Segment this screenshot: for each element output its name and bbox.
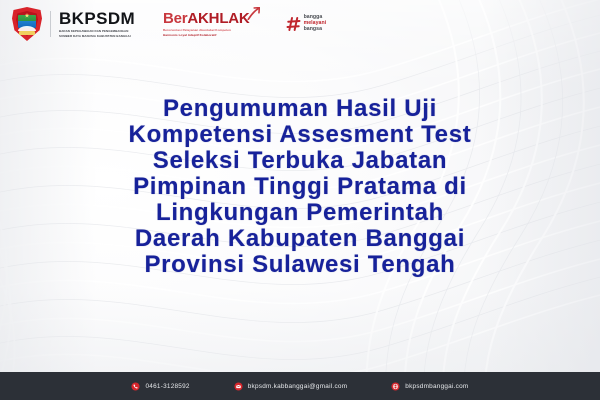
title-line-3: Seleksi Terbuka Jabatan xyxy=(26,148,574,174)
title-line-2: Kompetensi Assesment Test xyxy=(26,122,574,148)
bkpsdm-word: BKPSDM xyxy=(59,10,137,27)
berakhlak-tagline: Berorientasi Pelayanan Akuntabel Kompete… xyxy=(163,28,250,37)
announcement-title: Pengumuman Hasil Uji Kompetensi Assesmen… xyxy=(0,96,600,278)
bangga-line3: bangsa xyxy=(304,27,327,33)
bkpsdm-wordmark: BKPSDM BADAN KEPEGAWAIAN DAN PENGEMBANGA… xyxy=(59,10,137,37)
berakhlak-prefix: Ber xyxy=(163,10,187,27)
title-line-6: Daerah Kabupaten Banggai xyxy=(26,226,574,252)
contact-email-value: bkpsdm.kabbanggai@gmail.com xyxy=(248,383,348,390)
footer-contact-bar: 0461-3128592 bkpsdm.kabbanggai@gmail.com… xyxy=(0,372,600,400)
title-line-7: Provinsi Sulawesi Tengah xyxy=(26,252,574,278)
contact-website-value: bkpsdmbanggai.com xyxy=(405,383,468,390)
contact-website[interactable]: bkpsdmbanggai.com xyxy=(391,382,468,391)
hashtag-mark-icon xyxy=(286,16,301,32)
header-logo-bar: BKPSDM BADAN KEPEGAWAIAN DAN PENGEMBANGA… xyxy=(0,0,600,48)
berakhlak-wordmark: BerAKHLAK xyxy=(163,11,250,26)
bkpsdm-subtitle: BADAN KEPEGAWAIAN DAN PENGEMBANGAN SUMBE… xyxy=(59,29,137,37)
bangga-melayani-bangsa-logo: bangga melayani bangsa xyxy=(286,15,327,32)
bkpsdm-logo-lockup: BKPSDM BADAN KEPEGAWAIAN DAN PENGEMBANGA… xyxy=(12,7,137,41)
title-line-4: Pimpinan Tinggi Pratama di xyxy=(26,174,574,200)
contact-phone-value: 0461-3128592 xyxy=(145,383,189,390)
contact-phone[interactable]: 0461-3128592 xyxy=(131,382,189,391)
globe-icon xyxy=(391,382,400,391)
title-line-1: Pengumuman Hasil Uji xyxy=(26,96,574,122)
berakhlak-suffix: AKHLAK xyxy=(187,10,249,27)
banggai-regency-crest-icon xyxy=(12,7,42,41)
berakhlak-tagline-line2: Harmonis Loyal Adaptif Kolaboratif xyxy=(163,33,250,38)
announcement-poster: BKPSDM BADAN KEPEGAWAIAN DAN PENGEMBANGA… xyxy=(0,0,600,400)
phone-icon xyxy=(131,382,140,391)
envelope-icon xyxy=(234,382,243,391)
bangga-wordmark: bangga melayani bangsa xyxy=(304,15,327,32)
contact-email[interactable]: bkpsdm.kabbanggai@gmail.com xyxy=(234,382,348,391)
logo-divider xyxy=(50,11,51,37)
title-line-5: Lingkungan Pemerintah xyxy=(26,200,574,226)
berakhlak-logo: BerAKHLAK Berorientasi Pelayanan Akuntab… xyxy=(163,11,260,37)
swoosh-arrow-icon xyxy=(247,7,260,20)
